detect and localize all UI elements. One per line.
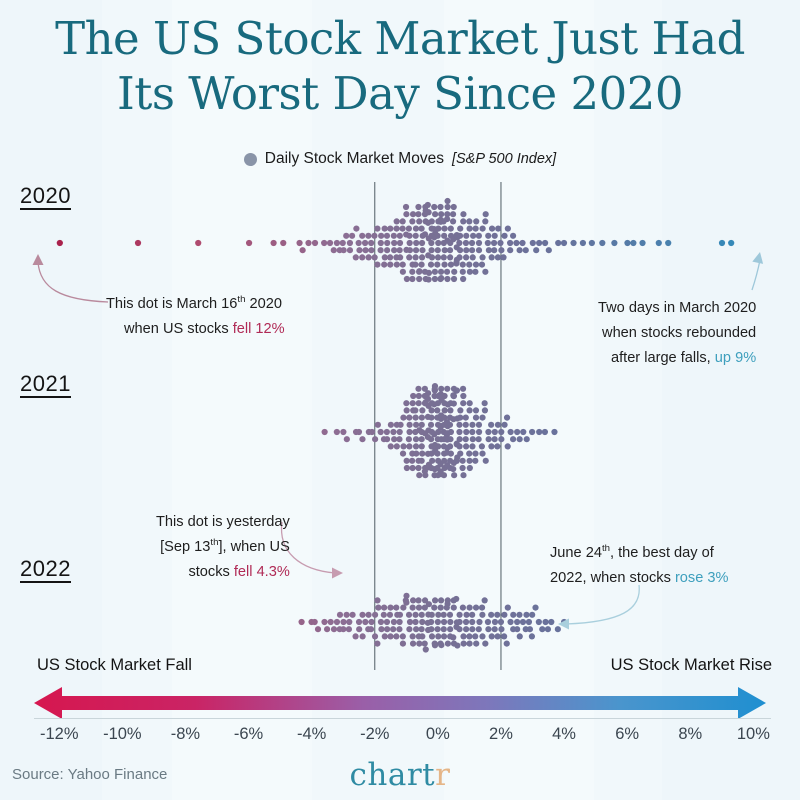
data-point	[428, 619, 434, 625]
data-point	[388, 443, 394, 449]
data-point	[384, 247, 390, 253]
data-point	[416, 641, 422, 647]
data-point	[416, 393, 422, 399]
data-point	[457, 415, 463, 421]
data-point	[400, 269, 406, 275]
data-point	[347, 247, 353, 253]
data-point	[495, 254, 501, 260]
annotation-march16-highlight: fell 12%	[233, 321, 285, 337]
data-point	[331, 247, 337, 253]
data-point	[514, 619, 520, 625]
data-point	[438, 386, 444, 392]
data-point	[356, 619, 362, 625]
data-point	[460, 386, 466, 392]
data-point	[460, 393, 466, 399]
data-point	[419, 240, 425, 246]
data-point	[435, 240, 441, 246]
data-point	[485, 626, 491, 632]
data-point	[447, 612, 453, 618]
data-point	[369, 429, 375, 435]
data-point	[412, 612, 418, 618]
data-point	[312, 240, 318, 246]
data-point	[491, 247, 497, 253]
annotation-arrowhead	[33, 254, 44, 265]
data-point	[523, 612, 529, 618]
data-point	[356, 240, 362, 246]
axis-tick: 4%	[552, 725, 576, 744]
data-point	[448, 262, 454, 268]
data-point	[441, 262, 447, 268]
data-point	[400, 443, 406, 449]
data-point	[473, 262, 479, 268]
data-point	[444, 216, 450, 222]
annotation-rebound: Two days in March 2020 when stocks rebou…	[598, 296, 756, 371]
axis-arrow-shape	[34, 687, 766, 719]
data-point	[456, 619, 462, 625]
data-point	[479, 633, 485, 639]
data-point	[510, 233, 516, 239]
data-point	[418, 226, 424, 232]
data-point	[331, 626, 337, 632]
data-point	[406, 233, 412, 239]
data-point	[340, 429, 346, 435]
data-point	[438, 597, 444, 603]
data-point	[447, 619, 453, 625]
data-point	[415, 204, 421, 210]
data-point	[460, 262, 466, 268]
data-point	[500, 254, 506, 260]
data-point	[441, 254, 447, 260]
data-point	[397, 240, 403, 246]
data-point	[472, 269, 478, 275]
data-point	[450, 211, 456, 217]
data-point	[454, 642, 460, 648]
data-point	[374, 262, 380, 268]
data-point	[448, 451, 454, 457]
data-point	[459, 465, 465, 471]
data-point	[391, 436, 397, 442]
data-point	[412, 407, 418, 413]
data-point	[409, 458, 415, 464]
annotation-march16: This dot is March 16th 2020 when US stoc…	[106, 292, 285, 342]
data-point	[536, 619, 542, 625]
data-point	[497, 240, 503, 246]
data-point	[415, 211, 421, 217]
data-point	[448, 429, 454, 435]
data-point	[434, 451, 440, 457]
data-point	[466, 451, 472, 457]
data-point	[467, 465, 473, 471]
data-point	[429, 254, 435, 260]
data-point	[410, 211, 416, 217]
data-point	[410, 641, 416, 647]
data-point	[271, 240, 277, 246]
data-point	[406, 226, 412, 232]
data-point	[456, 254, 462, 260]
axis-tick: 0%	[426, 725, 450, 744]
data-point	[391, 247, 397, 253]
data-point	[435, 443, 441, 449]
data-point	[639, 240, 645, 246]
data-point	[407, 619, 413, 625]
data-point	[470, 233, 476, 239]
data-point	[580, 240, 586, 246]
data-point	[489, 633, 495, 639]
axis-tick: 8%	[678, 725, 702, 744]
data-point	[384, 233, 390, 239]
annotation-june24-highlight: rose 3%	[675, 570, 729, 586]
data-point	[498, 429, 504, 435]
data-point	[312, 619, 318, 625]
data-point	[422, 641, 428, 647]
data-point	[400, 633, 406, 639]
annotation-june24-line1a: June 24	[550, 545, 602, 561]
data-point	[501, 633, 507, 639]
data-point	[406, 415, 412, 421]
data-point	[400, 218, 406, 224]
data-point	[460, 400, 466, 406]
data-point	[387, 633, 393, 639]
data-point	[470, 436, 476, 442]
row-label-2021: 2021	[20, 372, 71, 398]
data-point	[513, 240, 519, 246]
data-point	[473, 407, 479, 413]
data-point	[473, 415, 479, 421]
data-point	[479, 451, 485, 457]
data-point	[463, 626, 469, 632]
data-point	[419, 247, 425, 253]
data-point	[469, 422, 475, 428]
axis-baseline	[34, 718, 771, 719]
data-point	[447, 436, 453, 442]
data-point	[469, 626, 475, 632]
data-point	[419, 436, 425, 442]
data-point	[382, 254, 388, 260]
data-point	[378, 247, 384, 253]
data-point	[501, 422, 507, 428]
data-point	[441, 633, 447, 639]
annotation-rebound-line3-pre: after large falls,	[611, 350, 715, 366]
axis-tick: 2%	[489, 725, 513, 744]
data-point	[447, 626, 453, 632]
data-point	[334, 429, 340, 435]
annotation-yesterday-line2b: ], when US	[218, 539, 289, 555]
axis-tick: -12%	[40, 725, 79, 744]
data-point	[419, 443, 425, 449]
data-point	[384, 429, 390, 435]
data-point	[296, 240, 302, 246]
data-point	[545, 626, 551, 632]
annotation-connector	[38, 262, 108, 302]
data-point	[382, 633, 388, 639]
data-point	[448, 226, 454, 232]
data-point	[413, 226, 419, 232]
data-point	[517, 633, 523, 639]
data-point	[447, 407, 453, 413]
data-point	[347, 240, 353, 246]
data-point	[381, 612, 387, 618]
data-point	[656, 240, 662, 246]
data-point	[404, 407, 410, 413]
data-point	[510, 612, 516, 618]
data-point	[463, 240, 469, 246]
data-point	[393, 633, 399, 639]
data-point	[457, 233, 463, 239]
data-point	[372, 254, 378, 260]
data-point	[409, 269, 415, 275]
data-point	[416, 472, 422, 478]
data-point	[476, 619, 482, 625]
annotation-rebound-line2: when stocks rebounded	[598, 321, 756, 346]
data-point	[529, 612, 535, 618]
data-point	[444, 276, 450, 282]
data-point	[463, 233, 469, 239]
data-point	[372, 633, 378, 639]
data-point	[431, 204, 437, 210]
data-point	[334, 240, 340, 246]
data-point	[400, 262, 406, 268]
annotation-yesterday-line1: This dot is yesterday	[156, 510, 290, 535]
data-point	[407, 240, 413, 246]
data-point	[435, 226, 441, 232]
data-point	[444, 386, 450, 392]
data-point	[536, 240, 542, 246]
data-point	[356, 247, 362, 253]
data-point	[508, 429, 514, 435]
data-point	[419, 626, 425, 632]
data-point	[381, 262, 387, 268]
data-point	[570, 240, 576, 246]
data-point	[322, 429, 328, 435]
data-point	[466, 262, 472, 268]
data-point	[419, 451, 425, 457]
data-point	[387, 612, 393, 618]
axis-gradient-arrow	[0, 685, 800, 721]
data-point	[413, 254, 419, 260]
data-point	[195, 240, 201, 246]
data-point	[445, 204, 451, 210]
data-point	[445, 641, 451, 647]
data-point	[516, 612, 522, 618]
annotation-march16-line1b: 2020	[245, 296, 282, 312]
data-point	[514, 429, 520, 435]
data-point	[441, 626, 447, 632]
legend-label: Daily Stock Market Moves	[265, 150, 444, 168]
data-point	[298, 619, 304, 625]
data-point	[396, 626, 402, 632]
data-point	[403, 211, 409, 217]
data-point	[410, 400, 416, 406]
data-point	[519, 240, 525, 246]
data-point	[507, 240, 513, 246]
axis-fall-label: US Stock Market Fall	[37, 656, 192, 675]
data-point	[460, 605, 466, 611]
data-point	[435, 619, 441, 625]
data-point	[426, 270, 432, 276]
data-point	[482, 218, 488, 224]
data-point	[457, 226, 463, 232]
data-point	[397, 254, 403, 260]
data-point	[451, 204, 457, 210]
data-point	[524, 436, 530, 442]
data-point	[419, 612, 425, 618]
data-point	[375, 605, 381, 611]
annotation-yesterday-line3-pre: stocks	[188, 564, 233, 580]
data-point	[321, 240, 327, 246]
beeswarm-svg	[0, 170, 800, 680]
data-point	[416, 268, 422, 274]
data-point	[359, 233, 365, 239]
data-point	[432, 269, 438, 275]
data-point	[57, 240, 63, 246]
data-point	[305, 240, 311, 246]
data-point	[438, 642, 444, 648]
beeswarm-plot	[0, 170, 800, 680]
data-point	[413, 415, 419, 421]
data-point	[340, 619, 346, 625]
data-point	[517, 247, 523, 253]
data-point	[419, 407, 425, 413]
data-point	[444, 601, 450, 607]
data-point	[324, 626, 330, 632]
data-point	[356, 429, 362, 435]
data-point	[406, 429, 412, 435]
data-point	[460, 211, 466, 217]
data-point	[482, 269, 488, 275]
data-point	[419, 422, 425, 428]
data-point	[527, 626, 533, 632]
title-line-2: Its Worst Day Since 2020	[0, 67, 800, 122]
data-point	[428, 407, 434, 413]
data-point	[428, 415, 434, 421]
data-point	[463, 612, 469, 618]
data-point	[495, 226, 501, 232]
data-point	[413, 240, 419, 246]
data-point	[438, 211, 444, 217]
data-point	[397, 247, 403, 253]
title-line-1: The US Stock Market Just Had	[55, 12, 745, 65]
data-point	[467, 269, 473, 275]
annotation-rebound-line1: Two days in March 2020	[598, 296, 756, 321]
data-point	[472, 458, 478, 464]
data-point	[498, 626, 504, 632]
axis-tick: -2%	[360, 725, 389, 744]
data-point	[404, 276, 410, 282]
data-point	[555, 240, 561, 246]
data-point	[366, 254, 372, 260]
data-point	[456, 612, 462, 618]
data-point	[382, 226, 388, 232]
data-point	[665, 240, 671, 246]
data-point	[362, 247, 368, 253]
data-point	[425, 276, 431, 282]
data-point	[434, 262, 440, 268]
data-point	[447, 422, 453, 428]
data-point	[400, 451, 406, 457]
data-point	[327, 240, 333, 246]
data-point	[479, 443, 485, 449]
data-point	[378, 429, 384, 435]
data-point	[482, 400, 488, 406]
data-point	[532, 605, 538, 611]
data-point	[719, 240, 725, 246]
data-point	[368, 626, 374, 632]
data-point	[488, 422, 494, 428]
data-point	[451, 401, 457, 407]
data-point	[435, 254, 441, 260]
axis-arrow-svg	[0, 685, 800, 721]
data-point	[492, 436, 498, 442]
data-point	[479, 415, 485, 421]
data-point	[457, 436, 463, 442]
data-point	[353, 254, 359, 260]
data-point	[466, 633, 472, 639]
data-point	[425, 390, 431, 396]
data-point	[397, 233, 403, 239]
data-point	[403, 204, 409, 210]
data-point	[469, 443, 475, 449]
data-point	[533, 247, 539, 253]
data-point	[431, 605, 437, 611]
data-point	[341, 247, 347, 253]
data-point	[434, 626, 440, 632]
data-point	[404, 458, 410, 464]
data-point	[438, 605, 444, 611]
data-point	[353, 226, 359, 232]
data-point	[415, 465, 421, 471]
legend-sublabel: [S&P 500 Index]	[452, 151, 556, 167]
data-point	[246, 240, 252, 246]
data-point	[485, 429, 491, 435]
data-point	[498, 247, 504, 253]
axis-tick: -8%	[171, 725, 200, 744]
data-point	[375, 422, 381, 428]
data-point	[447, 443, 453, 449]
data-point	[456, 429, 462, 435]
data-point	[476, 436, 482, 442]
data-point	[399, 226, 405, 232]
data-point	[426, 209, 432, 215]
data-point	[403, 593, 409, 599]
data-point	[454, 387, 460, 393]
data-point	[434, 407, 440, 413]
data-point	[410, 633, 416, 639]
page-title: The US Stock Market Just Had Its Worst D…	[0, 12, 800, 122]
axis-rise-label: US Stock Market Rise	[611, 656, 772, 675]
data-point	[457, 451, 463, 457]
data-point	[441, 393, 447, 399]
data-point	[463, 429, 469, 435]
data-point	[384, 619, 390, 625]
data-point	[423, 646, 429, 652]
data-point	[356, 626, 362, 632]
data-point	[410, 597, 416, 603]
annotation-connector	[752, 260, 760, 290]
data-point	[407, 422, 413, 428]
data-point	[428, 240, 434, 246]
data-point	[488, 443, 494, 449]
data-point	[517, 436, 523, 442]
data-point	[492, 233, 498, 239]
swarm-row-2022	[298, 593, 567, 653]
annotation-yesterday-highlight: fell 4.3%	[234, 564, 290, 580]
data-point	[460, 218, 466, 224]
data-point	[514, 626, 520, 632]
annotation-rebound-highlight: up 9%	[715, 350, 756, 366]
brand-main: chart	[350, 757, 436, 793]
data-point	[413, 443, 419, 449]
data-point	[451, 269, 457, 275]
